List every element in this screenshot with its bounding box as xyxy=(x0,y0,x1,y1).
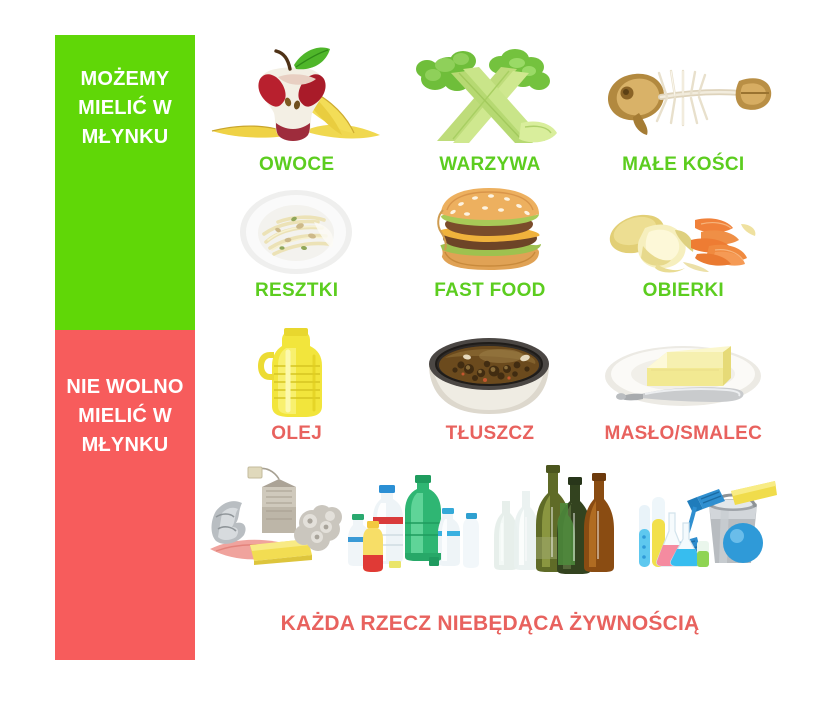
glass-bottles-icon xyxy=(490,457,635,577)
cell-owoce: OWOCE xyxy=(200,35,393,176)
caption-male-kosci: MAŁE KOŚCI xyxy=(622,154,744,176)
celery-stalks-icon xyxy=(397,35,582,150)
bitten-hamburger-icon xyxy=(397,186,582,276)
row-allowed-1: OWOCE xyxy=(200,35,780,176)
infographic-poster: MOŻEMY MIELIĆ W MŁYNKU NIE WOLNO MIELIĆ … xyxy=(0,0,833,708)
household-waste-sponge-teabag-icon xyxy=(200,457,345,577)
row-forbidden-2 xyxy=(200,457,780,581)
allowed-title-line-2: MIELIĆ W xyxy=(55,94,195,123)
cell-glass-bottles xyxy=(490,457,635,581)
caption-maslo-smalec: MASŁO/SMALEC xyxy=(604,423,762,445)
caption-olej: OLEJ xyxy=(271,423,322,445)
cell-male-kosci: MAŁE KOŚCI xyxy=(587,35,780,176)
cell-olej: OLEJ xyxy=(200,324,393,445)
caption-tluszcz: TŁUSZCZ xyxy=(446,423,535,445)
plastic-bottles-icon xyxy=(345,457,490,577)
cell-maslo-smalec: MASŁO/SMALEC xyxy=(587,324,780,445)
pan-of-grease-icon xyxy=(397,324,582,419)
caption-owoce: OWOCE xyxy=(259,154,334,176)
oil-bottle-icon xyxy=(204,324,389,419)
cell-chemicals xyxy=(635,457,780,581)
allowed-panel-title: MOŻEMY MIELIĆ W MŁYNKU xyxy=(55,65,195,152)
cell-tluszcz: TŁUSZCZ xyxy=(393,324,586,445)
allowed-title-line-1: MOŻEMY xyxy=(55,65,195,94)
items-grid: OWOCE xyxy=(200,35,780,581)
forbidden-title-line-2: MIELIĆ W xyxy=(55,402,195,431)
row-allowed-2: RESZTKI xyxy=(200,186,780,302)
cell-fast-food: FAST FOOD xyxy=(393,186,586,302)
row-forbidden-1: OLEJ xyxy=(200,324,780,445)
caption-obierki: OBIERKI xyxy=(643,280,724,302)
cell-warzywa: WARZYWA xyxy=(393,35,586,176)
fish-bones-icon xyxy=(591,35,776,150)
caption-resztki: RESZTKI xyxy=(255,280,338,302)
cell-household-waste xyxy=(200,457,345,581)
forbidden-title-line-1: NIE WOLNO xyxy=(55,373,195,402)
plate-of-leftovers-icon xyxy=(204,186,389,276)
cell-plastic-bottles xyxy=(345,457,490,581)
chemicals-and-cleaning-tools-icon xyxy=(635,457,780,577)
apple-core-banana-peel-icon xyxy=(204,35,389,150)
cell-obierki: OBIERKI xyxy=(587,186,780,302)
forbidden-title-line-3: MŁYNKU xyxy=(55,431,195,460)
allowed-title-line-3: MŁYNKU xyxy=(55,123,195,152)
potato-carrot-peelings-icon xyxy=(591,186,776,276)
butter-on-plate-icon xyxy=(591,324,776,419)
cell-resztki: RESZTKI xyxy=(200,186,393,302)
caption-fast-food: FAST FOOD xyxy=(434,280,545,302)
forbidden-panel-title: NIE WOLNO MIELIĆ W MŁYNKU xyxy=(55,373,195,460)
caption-warzywa: WARZYWA xyxy=(439,154,540,176)
category-rail: MOŻEMY MIELIĆ W MŁYNKU NIE WOLNO MIELIĆ … xyxy=(55,35,195,660)
footer-note: KAŻDA RZECZ NIEBĘDĄCA ŻYWNOŚCIĄ xyxy=(200,612,780,636)
